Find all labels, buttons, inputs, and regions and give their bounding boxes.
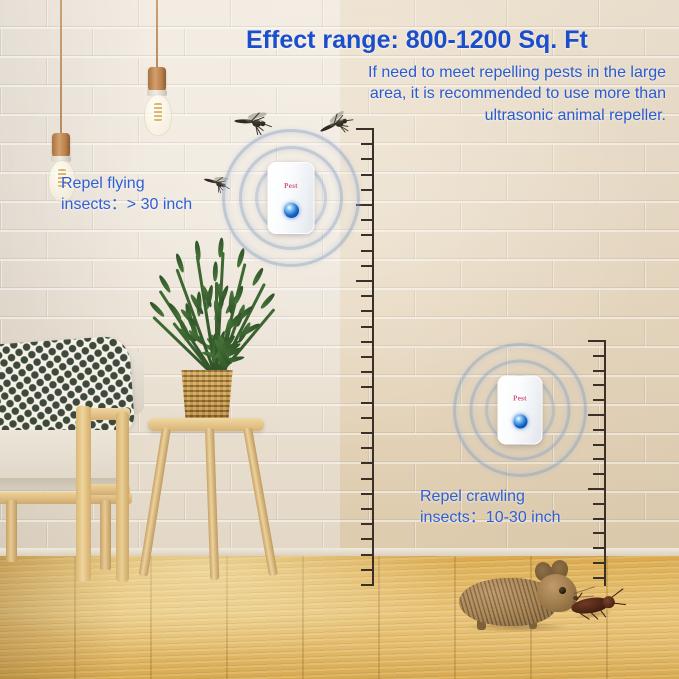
headline-effect-range: Effect range: 800-1200 Sq. Ft [246,26,588,55]
ruler-tick [356,280,372,282]
plant-stem [215,282,218,378]
ruler-tick [361,538,372,540]
ruler-tick [588,488,604,490]
callout-flying-insects: Repel flying insects：> 30 inch [61,174,192,216]
ultrasonic-repeller-lower[interactable]: Pest [452,342,588,478]
ruler-tick [593,562,604,564]
ruler-tick [588,414,604,416]
ruler-tick [361,462,372,464]
ruler-tick [361,250,372,252]
ruler-tick [361,478,372,480]
sofa-leg-left [6,500,17,562]
ruler-tick [593,547,604,549]
repeller-logo-upper: Pest [284,182,298,190]
repeller-logo-lower: Pest [513,395,527,403]
sofa-arm-back-post [116,412,129,582]
ruler-tick [361,508,372,510]
ruler-tick [361,356,372,358]
ruler-tick [361,174,372,176]
ruler-tick [593,370,604,372]
ruler-tick [593,577,604,579]
ruler-tick [361,493,372,495]
ruler-tick [593,355,604,357]
callout-flying-line-2: insects：> 30 inch [61,195,192,216]
decorative-pillow [0,335,135,441]
ruler-tick [593,518,604,520]
ultrasonic-repeller-upper[interactable]: Pest [222,128,360,268]
plant-leaf [149,300,166,318]
ruler-tick [361,326,372,328]
mosquito-leg [218,184,219,193]
ruler-tick [361,265,372,267]
ruler-tick [361,417,372,419]
subtext-description: If need to meet repelling pests in the l… [268,62,666,126]
product-marketing-image: Pest Pest [0,0,679,679]
ruler-tick [593,429,604,431]
repeller-led-upper [284,203,299,218]
pendant-cord-right [156,0,158,70]
ruler-tick [361,386,372,388]
ruler-tick [361,447,372,449]
subtext-line-1: If need to meet repelling pests in the l… [268,62,666,83]
ruler-tick [361,189,372,191]
ruler-tick [361,402,372,404]
ruler-tick [588,340,604,342]
pendant-cord-left [60,0,62,136]
ruler-tick [361,234,372,236]
ruler-tick [361,371,372,373]
ruler-tick [593,473,604,475]
subtext-line-2: area, it is recommended to use more than [268,83,666,104]
pillow-geometric-pattern [0,335,135,441]
ruler-tick [593,444,604,446]
ruler-tick [593,458,604,460]
ruler-tick [361,295,372,297]
sofa-arm-front-post [76,406,91,581]
ruler-tick [593,399,604,401]
ruler-tick [593,384,604,386]
ruler-spine-right [604,340,606,586]
callout-flying-line-1: Repel flying [61,174,192,195]
sofa-leg-right [100,500,111,570]
plant-leaf [259,292,276,310]
callout-crawling-insects: Repel crawling insects：10-30 inch [420,487,561,529]
ruler-tick [361,432,372,434]
ruler-tick [361,310,372,312]
ruler-tick [361,143,372,145]
ruler-tick [593,503,604,505]
ruler-tick [593,532,604,534]
ruler-tick [361,523,372,525]
rodent-mouse [455,560,580,632]
rodent-eye [559,587,566,594]
repeller-body-upper: Pest [268,162,315,234]
plant-leaf [213,262,219,282]
subtext-line-3: ultrasonic animal repeller. [268,105,666,126]
ruler-tick [361,158,372,160]
ruler-tick [361,584,372,586]
repeller-led-lower [513,415,527,429]
bulb-filament-right [154,103,162,121]
ruler-tick [361,219,372,221]
ruler-tick [361,569,372,571]
ruler-tick [361,341,372,343]
repeller-body-lower: Pest [498,376,543,445]
pendant-bulb-right [144,94,172,136]
ruler-spine-left [372,128,374,586]
ruler-tick [361,554,372,556]
callout-crawling-line-2: insects：10-30 inch [420,508,561,529]
callout-crawling-line-1: Repel crawling [420,487,561,508]
